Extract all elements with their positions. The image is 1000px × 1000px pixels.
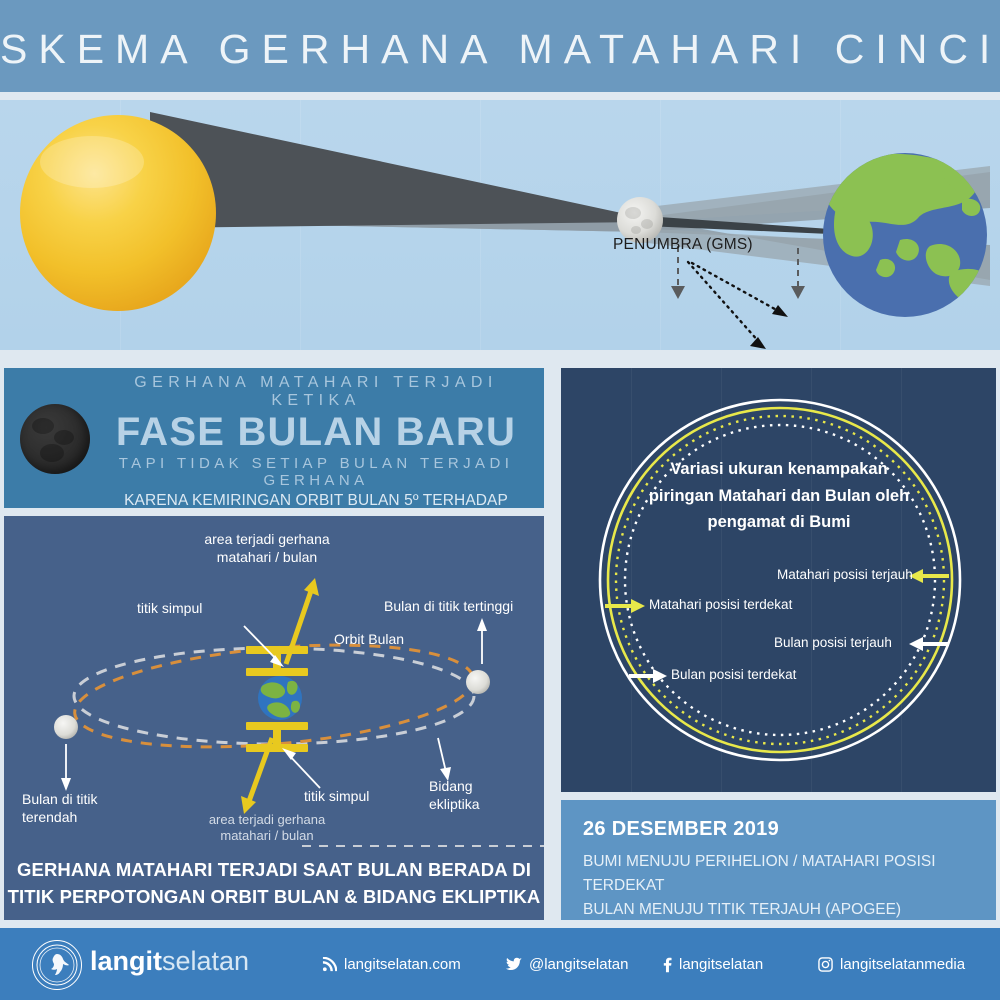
orbit-caption-line1: GERHANA MATAHARI TERJADI SAAT BULAN BERA…: [0, 857, 548, 884]
moon-lowest-icon: [54, 715, 78, 739]
label-moon-farthest: Bulan posisi terjauh: [774, 635, 892, 650]
instagram-icon: [818, 957, 833, 972]
penumbra-arrow-2: [688, 262, 766, 349]
eclipse-geometry-diagram: PENUMBRA (GMS) UMBRA (GMT) ANTUMBRA (GMC…: [0, 100, 1000, 350]
node-bottom-arrow: [282, 748, 320, 788]
header-bar: SKEMA GERHANA MATAHARI CINCIN: [0, 0, 1000, 92]
label-sun-farthest: Matahari posisi terjauh: [777, 567, 913, 582]
twitter-icon: [505, 957, 522, 972]
social-label-twitter: @langitselatan: [529, 956, 628, 973]
social-link-website[interactable]: langitselatan.com: [322, 956, 461, 973]
phase-text-block: GERHANA MATAHARI TERJADI KETIKA FASE BUL…: [96, 372, 536, 528]
penumbra-arrow-1: [692, 263, 788, 317]
social-link-instagram[interactable]: langitselatanmedia: [818, 956, 965, 973]
label-node-top: titik simpul: [137, 600, 202, 618]
label-moon-highest: Bulan di titik tertinggi: [384, 598, 513, 616]
label-moon-lowest-line2: terendah: [22, 809, 97, 827]
moon-highest-arrow: [477, 618, 487, 664]
earth-center-icon: [258, 676, 302, 720]
brand-wordmark[interactable]: langitselatan: [90, 948, 249, 975]
arrow-moon-farthest: [909, 637, 949, 651]
label-moon-lowest-line1: Bulan di titik: [22, 791, 97, 809]
brand-light: selatan: [162, 946, 249, 976]
phase-line-2: FASE BULAN BARU: [96, 411, 536, 453]
date-panel: 26 DESEMBER 2019 BUMI MENUJU PERIHELION …: [561, 800, 996, 920]
date-note-line1: BUMI MENUJU PERIHELION / MATAHARI POSISI…: [583, 850, 996, 898]
moon-mare: [40, 444, 64, 462]
label-penumbra: PENUMBRA (GMS): [613, 236, 753, 254]
rings-title: Variasi ukuran kenampakan piringan Matah…: [633, 456, 925, 536]
infographic-page: SKEMA GERHANA MATAHARI CINCIN: [0, 0, 1000, 1000]
label-eclipse-area-top: area terjadi gerhana matahari / bulan: [177, 531, 357, 566]
label-eclipse-area-bottom-line2: matahari / bulan: [182, 828, 352, 844]
brand-bold: langit: [90, 946, 162, 976]
node-marker-bottom: [246, 722, 308, 752]
eclipse-geometry-svg: [0, 100, 1000, 350]
orbit-caption-line2: TITIK PERPOTONGAN ORBIT BULAN & BIDANG E…: [0, 884, 548, 911]
orbit-caption: GERHANA MATAHARI TERJADI SAAT BULAN BERA…: [0, 857, 548, 911]
label-moon-nearest: Bulan posisi terdekat: [671, 667, 796, 682]
social-label-website: langitselatan.com: [344, 956, 461, 973]
rings-title-line2: piringan Matahari dan Bulan oleh: [633, 483, 925, 510]
rss-icon: [322, 957, 337, 972]
moon-highest-icon: [466, 670, 490, 694]
label-sun-nearest: Matahari posisi terdekat: [649, 597, 792, 612]
date-note: BUMI MENUJU PERIHELION / MATAHARI POSISI…: [583, 850, 996, 922]
new-moon-icon: [20, 404, 90, 474]
label-eclipse-area-top-line1: area terjadi gerhana: [177, 531, 357, 549]
label-moon-orbit: Orbit Bulan: [334, 631, 404, 649]
label-node-bottom: titik simpul: [304, 788, 369, 806]
date-note-line2: BULAN MENUJU TITIK TERJAUH (APOGEE): [583, 898, 996, 922]
social-link-twitter[interactable]: @langitselatan: [505, 956, 628, 973]
label-ecliptic-plane-line1: Bidang: [429, 778, 480, 796]
facebook-icon: [663, 957, 672, 973]
footer-bar: langitselatan langitselatan.com @langits…: [0, 928, 1000, 1000]
logo-seal-icon: [33, 941, 81, 989]
label-eclipse-area-top-line2: matahari / bulan: [177, 549, 357, 567]
ecliptic-plane-arrow: [438, 738, 451, 781]
sun-highlight: [40, 136, 144, 188]
label-eclipse-area-bottom: area terjadi gerhana matahari / bulan: [182, 812, 352, 845]
label-moon-lowest: Bulan di titik terendah: [22, 791, 97, 826]
label-eclipse-area-bottom-line1: area terjadi gerhana: [182, 812, 352, 828]
rings-title-line1: Variasi ukuran kenampakan: [633, 456, 925, 483]
apparent-size-panel: Variasi ukuran kenampakan piringan Matah…: [561, 368, 996, 792]
moon-lowest-arrow: [61, 744, 71, 791]
social-link-facebook[interactable]: langitselatan: [663, 956, 763, 973]
social-label-facebook: langitselatan: [679, 956, 763, 973]
moon-mare: [32, 418, 54, 434]
langitselatan-seal-logo[interactable]: [32, 940, 82, 990]
label-ecliptic-plane-line2: ekliptika: [429, 796, 480, 814]
page-title: SKEMA GERHANA MATAHARI CINCIN: [0, 26, 1000, 73]
moon-mare: [54, 430, 74, 445]
phase-line-1: GERHANA MATAHARI TERJADI KETIKA: [96, 374, 536, 410]
rings-title-line3: pengamat di Bumi: [633, 509, 925, 536]
social-label-instagram: langitselatanmedia: [840, 956, 965, 973]
eclipse-date: 26 DESEMBER 2019: [583, 818, 779, 841]
label-ecliptic-plane: Bidang ekliptika: [429, 778, 480, 813]
phase-line-3: TAPI TIDAK SETIAP BULAN TERJADI GERHANA: [96, 455, 536, 489]
